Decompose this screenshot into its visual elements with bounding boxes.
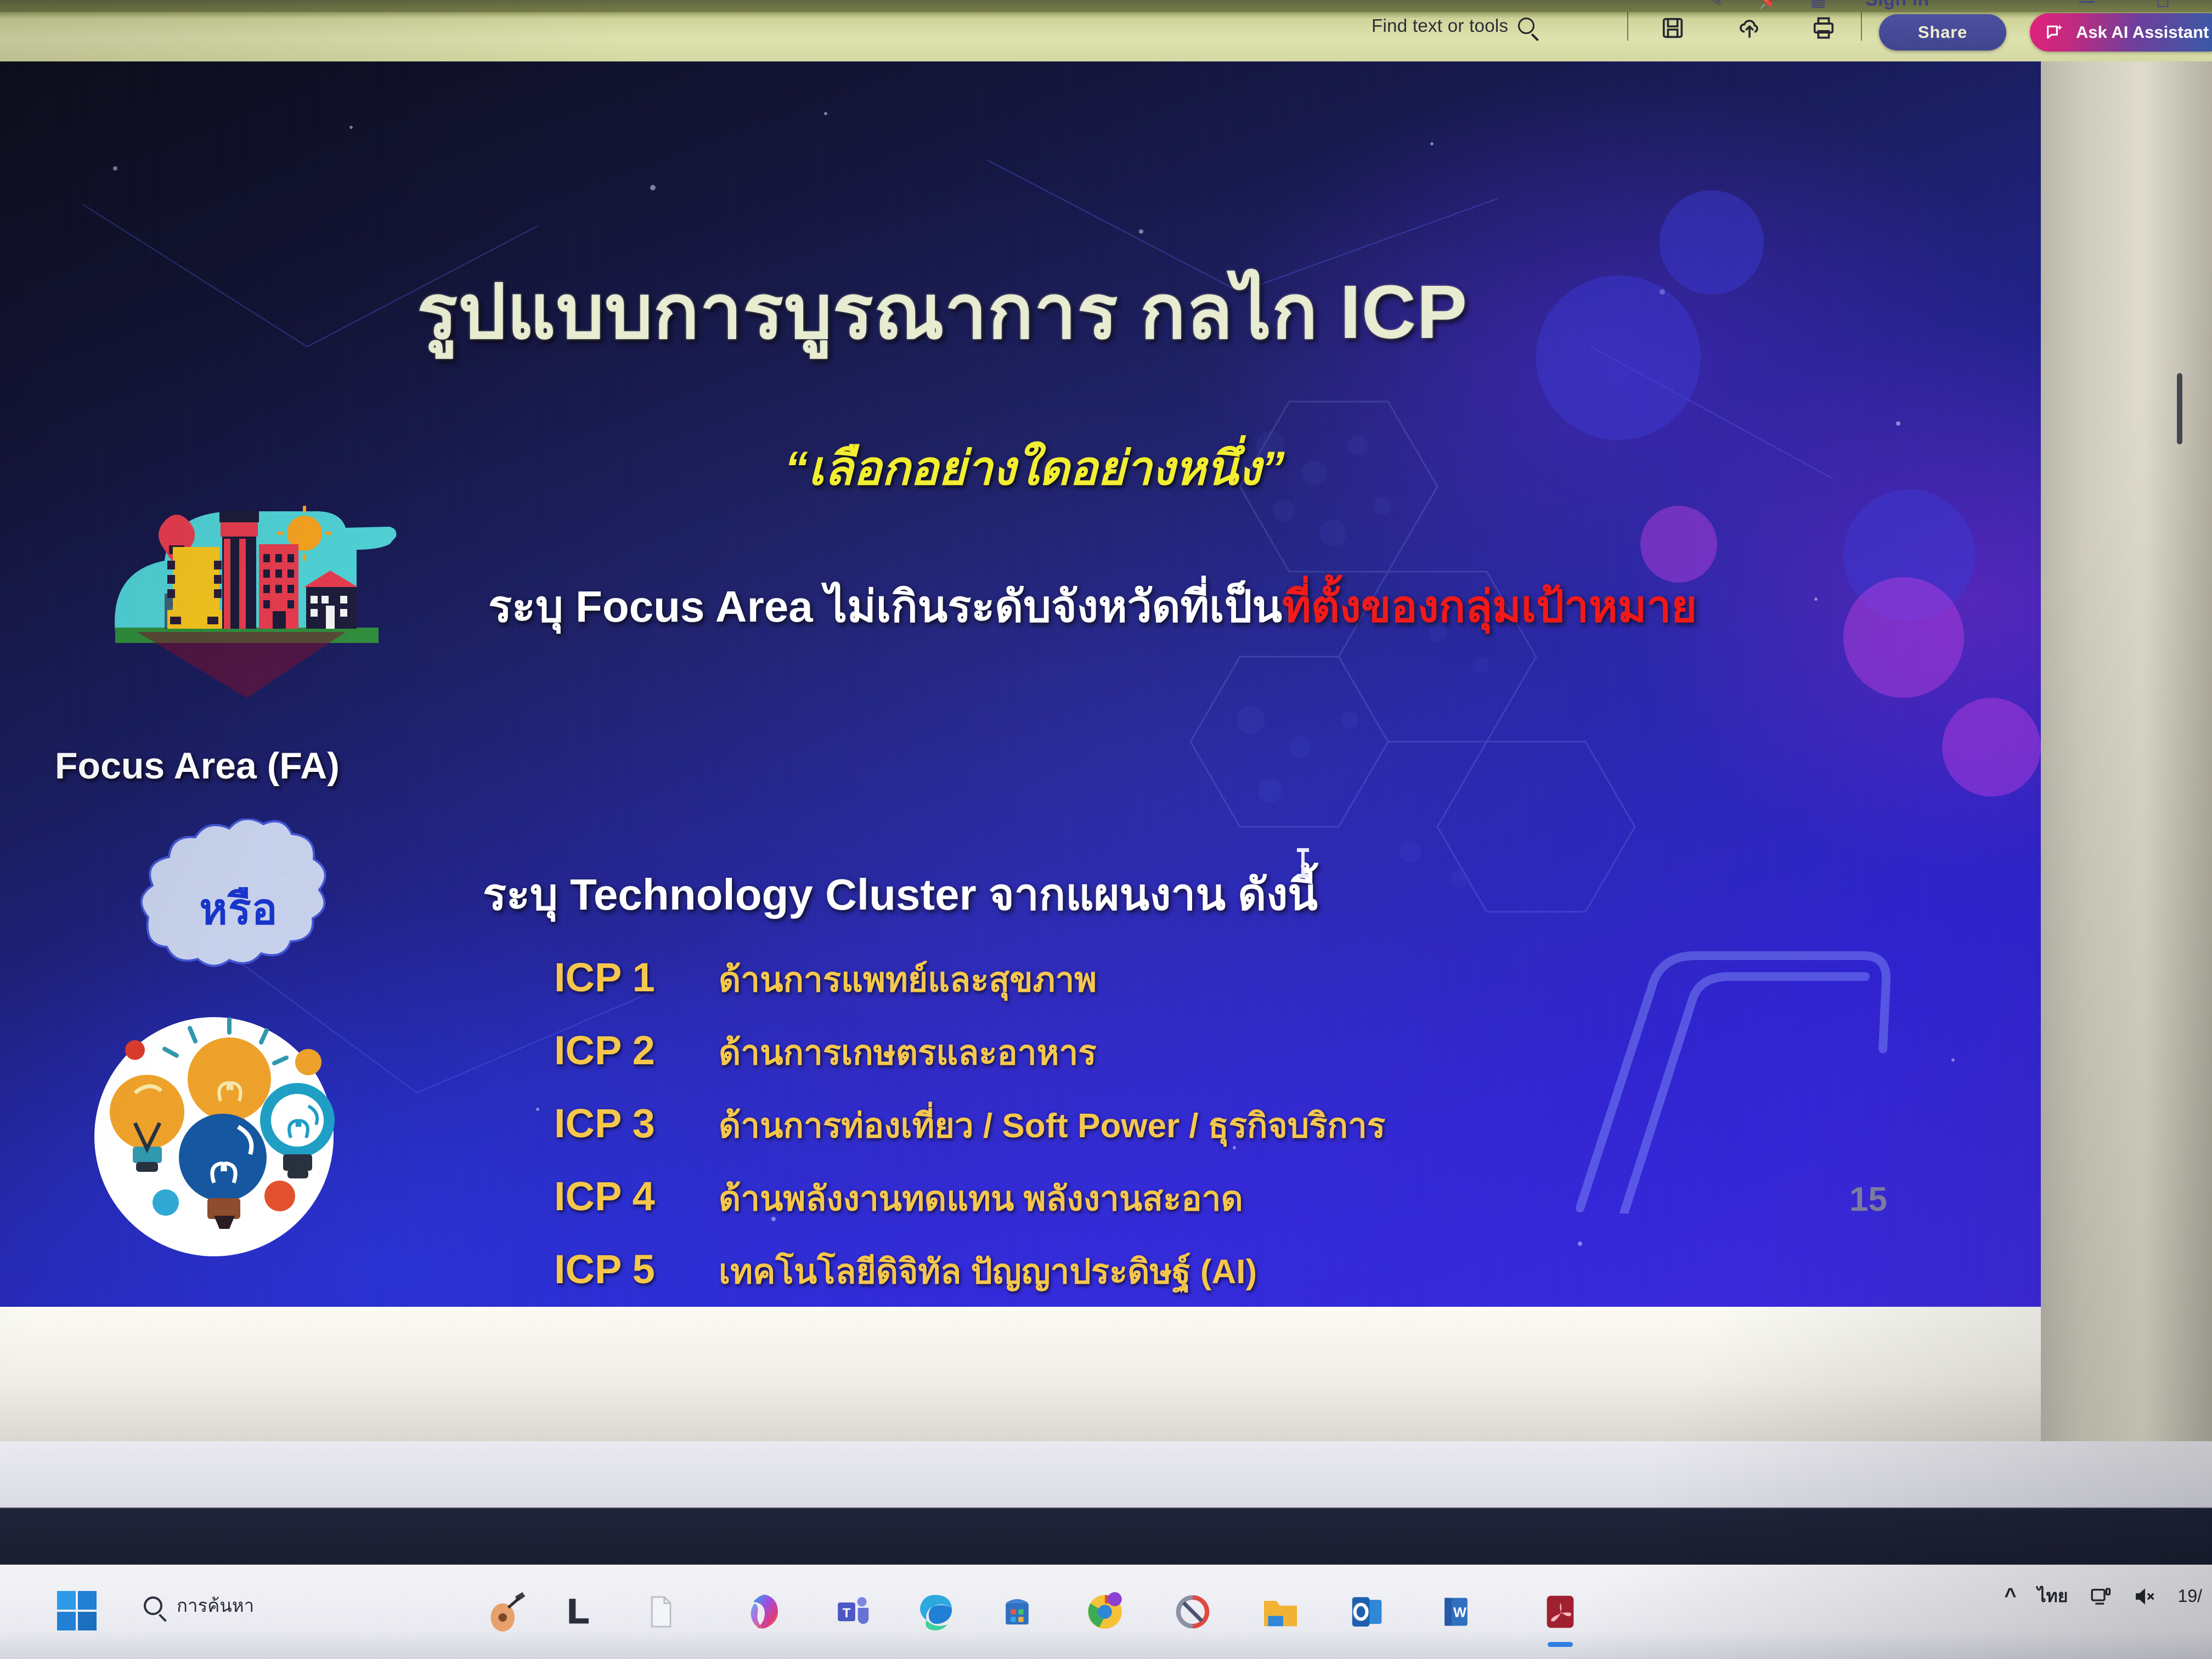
focus-area-label: Focus Area (FA) — [55, 744, 340, 787]
pdf-slide-page: รูปแบบการบูรณาการ กลไก ICP “เลือกอย่างใด… — [0, 61, 2041, 1307]
or-badge-label: หรือ — [110, 819, 368, 1000]
loop-app-icon[interactable] — [1163, 1582, 1222, 1641]
icp-description: ด้านการท่องเที่ยว / Soft Power / ธุรกิจบ… — [719, 1099, 1385, 1153]
icp-code: ICP 1 — [554, 954, 719, 1001]
pdf-right-gutter — [2041, 61, 2212, 1441]
toolbar-divider-2 — [1861, 12, 1862, 41]
acrobat-app-icon[interactable] — [1531, 1582, 1590, 1641]
icp-description: ด้านพลังงานทดแทน พลังงานสะอาด — [719, 1172, 1243, 1226]
ai-sparkle-icon — [2044, 21, 2066, 43]
list-item: ICP 2 ด้านการเกษตรและอาหาร — [554, 1026, 1385, 1099]
taskbar-search[interactable]: การค้นหา — [144, 1591, 254, 1620]
focus-area-statement-red: ที่ตั้งของกลุ่มเป้าหมาย — [1282, 582, 1697, 631]
svg-text:W: W — [1453, 1605, 1466, 1620]
search-icon — [144, 1596, 162, 1615]
svg-text:T: T — [843, 1606, 851, 1621]
chevron-up-icon[interactable]: ^ — [2004, 1584, 2016, 1608]
list-item: ICP 3 ด้านการท่องเที่ยว / Soft Power / ธ… — [554, 1099, 1385, 1172]
slide-subtitle: “เลือกอย่างใดอย่างหนึ่ง” — [785, 430, 1285, 505]
slide-number: 15 — [1849, 1180, 1887, 1219]
find-text-or-tools[interactable]: Find text or tools — [1372, 15, 1534, 36]
pdf-page-bottom-margin — [0, 1307, 2041, 1441]
text-cursor-caret — [1296, 847, 1310, 879]
maximize-button[interactable]: ◻ — [2156, 0, 2170, 10]
chrome-app-icon[interactable] — [1075, 1582, 1135, 1641]
search-icon[interactable] — [1518, 18, 1534, 34]
network-icon[interactable] — [2089, 1585, 2112, 1608]
photographed-screen: ✎ 📌 ▦ Sign In — ◻ Find text or tools — [0, 0, 2212, 1659]
acrobat-toolbar: ✎ 📌 ▦ Sign In — ◻ Find text or tools — [0, 0, 2212, 61]
toolbar-divider-1 — [1627, 12, 1628, 41]
cluster-label: Cluster — [148, 1301, 280, 1307]
file-explorer-app-icon[interactable] — [1251, 1582, 1310, 1641]
icp-description: ด้านการแพทย์และสุขภาพ — [719, 953, 1097, 1007]
word-app-icon[interactable]: W — [1426, 1582, 1486, 1641]
ask-ai-assistant-button[interactable]: Ask AI Assistant — [2030, 13, 2212, 52]
icp-code: ICP 4 — [554, 1173, 719, 1220]
upload-cloud-button[interactable] — [1734, 12, 1765, 44]
focus-area-statement-white: ระบุ Focus Area ไม่เกินระดับจังหวัดที่เป… — [488, 582, 1282, 631]
find-label: Find text or tools — [1372, 15, 1508, 36]
desktop-background-strip — [0, 1441, 2212, 1578]
technology-cluster-heading: ระบุ Technology Cluster จากแผนงาน ดังนี้ — [483, 860, 1318, 929]
minimize-button[interactable]: — — [2079, 0, 2095, 10]
edge-app-icon[interactable] — [905, 1582, 964, 1641]
list-item: ICP 1 ด้านการแพทย์และสุขภาพ — [554, 953, 1385, 1026]
icp-code: ICP 3 — [554, 1100, 719, 1147]
icp-code: ICP 2 — [554, 1027, 719, 1074]
lightbulb-cluster-icon — [82, 1011, 346, 1268]
vertical-scrollbar[interactable] — [2177, 373, 2182, 444]
document-app-icon[interactable] — [631, 1582, 690, 1641]
sign-in-link[interactable]: Sign In — [1865, 0, 1929, 10]
powershell-app-icon[interactable] — [549, 1582, 608, 1641]
print-button[interactable] — [1808, 12, 1839, 44]
speaker-muted-icon[interactable] — [2133, 1585, 2157, 1608]
icp-description: เทคโนโลยีดิจิทัล ปัญญาประดิษฐ์ (AI) — [719, 1245, 1257, 1299]
city-skyline-icon — [82, 467, 400, 703]
grid-icon[interactable]: ▦ — [1810, 0, 1826, 10]
slide-title: รูปแบบการบูรณาการ กลไก ICP — [417, 251, 1468, 371]
icp-description: ด้านการเกษตรและอาหาร — [719, 1026, 1097, 1080]
save-button[interactable] — [1657, 12, 1689, 44]
focus-area-statement: ระบุ Focus Area ไม่เกินระดับจังหวัดที่เป… — [488, 572, 1697, 641]
language-indicator[interactable]: ไทย — [2038, 1582, 2068, 1610]
icp-list: ICP 1 ด้านการแพทย์และสุขภาพ ICP 2 ด้านกา… — [554, 953, 1385, 1307]
start-button-icon[interactable] — [55, 1589, 99, 1633]
icp-code: ICP 5 — [554, 1246, 719, 1293]
copilot-app-icon[interactable] — [735, 1582, 794, 1641]
taskbar-search-text: การค้นหา — [177, 1591, 254, 1620]
microsoft-store-app-icon[interactable] — [988, 1582, 1047, 1641]
guitar-app-icon[interactable] — [477, 1582, 537, 1641]
list-item: ICP 4 ด้านพลังงานทดแทน พลังงานสะอาด — [554, 1172, 1385, 1245]
glowing-outline-decoration — [1514, 851, 1898, 1214]
system-tray: ^ ไทย 19/ — [2004, 1582, 2202, 1610]
pin-icon[interactable]: 📌 — [1758, 0, 1779, 10]
list-item: ICP 5 เทคโนโลยีดิจิทัล ปัญญาประดิษฐ์ (AI… — [554, 1245, 1385, 1307]
clock[interactable]: 19/ — [2178, 1586, 2202, 1606]
highlight-icon[interactable]: ✎ — [1709, 0, 1723, 10]
share-button[interactable]: Share — [1879, 14, 2006, 50]
outlook-app-icon[interactable] — [1339, 1582, 1398, 1641]
teams-app-icon[interactable]: T — [823, 1582, 882, 1641]
